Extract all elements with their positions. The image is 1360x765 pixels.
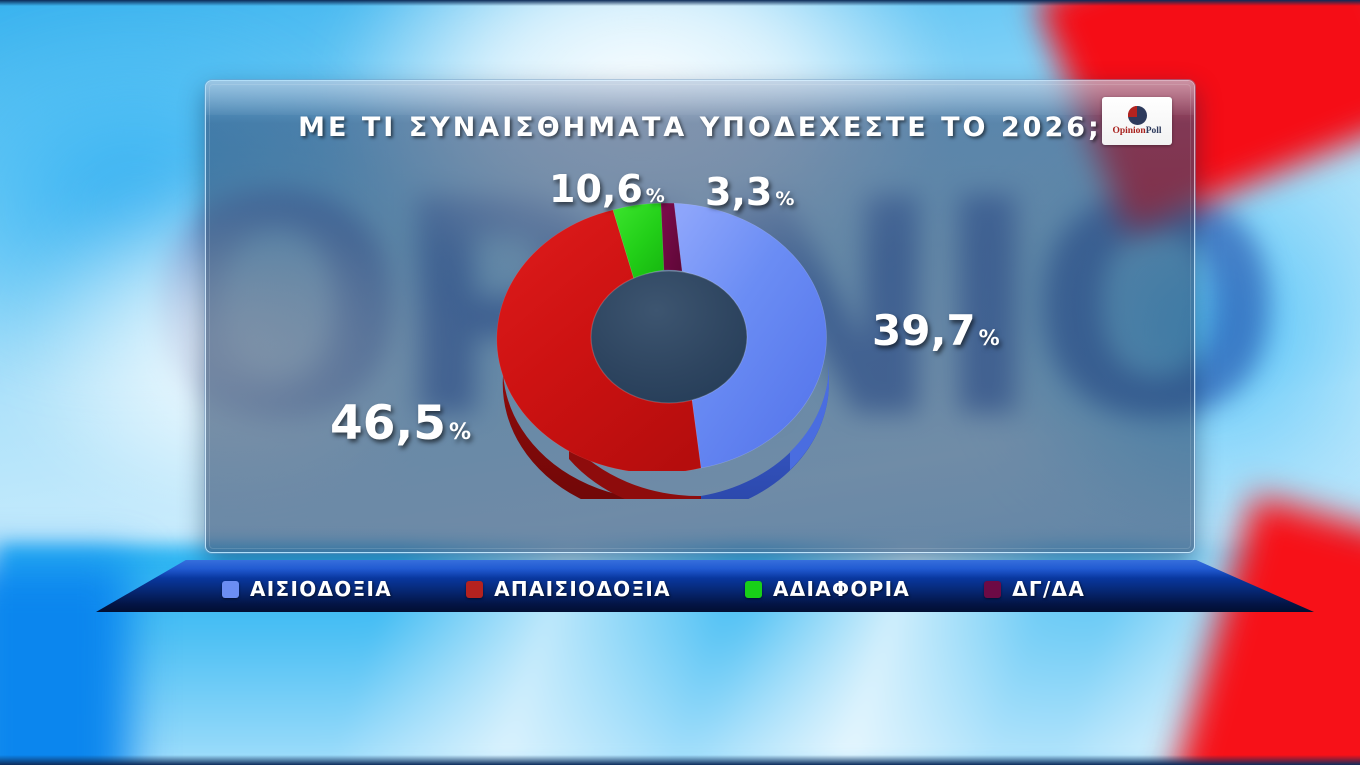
- percent-sign-adiaforia: %: [646, 185, 665, 207]
- value-label-apaisiodoxia: 46,5%: [330, 396, 471, 451]
- percent-sign-apaisiodoxia: %: [449, 420, 471, 445]
- legend-swatch-icon-apaisiodoxia: [466, 581, 483, 598]
- value-dgda: 3,3: [705, 170, 772, 214]
- value-label-dgda: 3,3%: [705, 170, 794, 214]
- value-aisiodoxia: 39,7: [872, 306, 976, 355]
- logo-text: OpinionPoll: [1112, 126, 1161, 137]
- legend-items: ΑΙΣΙΟΔΟΞΙΑ ΑΠΑΙΣΙΟΔΟΞΙΑ ΑΔΙΑΦΟΡΙΑ ΔΓ/ΔΑ: [0, 572, 1360, 606]
- chart-legend: ΑΙΣΙΟΔΟΞΙΑ ΑΠΑΙΣΙΟΔΟΞΙΑ ΑΔΙΑΦΟΡΙΑ ΔΓ/ΔΑ: [0, 560, 1360, 620]
- legend-label-adiaforia: ΑΔΙΑΦΟΡΙΑ: [773, 577, 910, 601]
- value-label-adiaforia: 10,6%: [549, 167, 665, 211]
- legend-swatch-icon-adiaforia: [745, 581, 762, 598]
- logo-text-opinion: Opinion: [1112, 126, 1145, 136]
- value-label-aisiodoxia: 39,7%: [872, 306, 1000, 355]
- legend-label-apaisiodoxia: ΑΠΑΙΣΙΟΔΟΞΙΑ: [494, 577, 671, 601]
- legend-swatch-icon-aisiodoxia: [222, 581, 239, 598]
- value-apaisiodoxia: 46,5: [330, 396, 446, 451]
- panel-gloss: [206, 81, 1194, 115]
- legend-swatch-icon-dgda: [984, 581, 1001, 598]
- legend-item-apaisiodoxia[interactable]: ΑΠΑΙΣΙΟΔΟΞΙΑ: [466, 577, 671, 601]
- legend-label-aisiodoxia: ΑΙΣΙΟΔΟΞΙΑ: [250, 577, 392, 601]
- page-title: ΜΕ ΤΙ ΣΥΝΑΙΣΘΗΜΑΤΑ ΥΠΟΔΕΧΕΣΤΕ ΤΟ 2026;: [206, 112, 1194, 143]
- value-adiaforia: 10,6: [549, 167, 643, 211]
- donut-3d-top: [479, 203, 859, 471]
- legend-item-adiaforia[interactable]: ΑΔΙΑΦΟΡΙΑ: [745, 577, 910, 601]
- donut-chart: [479, 203, 879, 513]
- logo-text-poll: Poll: [1146, 126, 1162, 136]
- opinionpoll-logo: OpinionPoll: [1102, 97, 1172, 145]
- background-top-edge: [0, 0, 1360, 6]
- percent-sign-dgda: %: [775, 188, 794, 210]
- background-bottom-edge: [0, 755, 1360, 765]
- legend-item-dgda[interactable]: ΔΓ/ΔΑ: [984, 577, 1085, 601]
- legend-label-dgda: ΔΓ/ΔΑ: [1012, 577, 1085, 601]
- percent-sign-aisiodoxia: %: [979, 326, 1000, 350]
- pie-chart-icon: [1128, 106, 1147, 125]
- legend-item-aisiodoxia[interactable]: ΑΙΣΙΟΔΟΞΙΑ: [222, 577, 392, 601]
